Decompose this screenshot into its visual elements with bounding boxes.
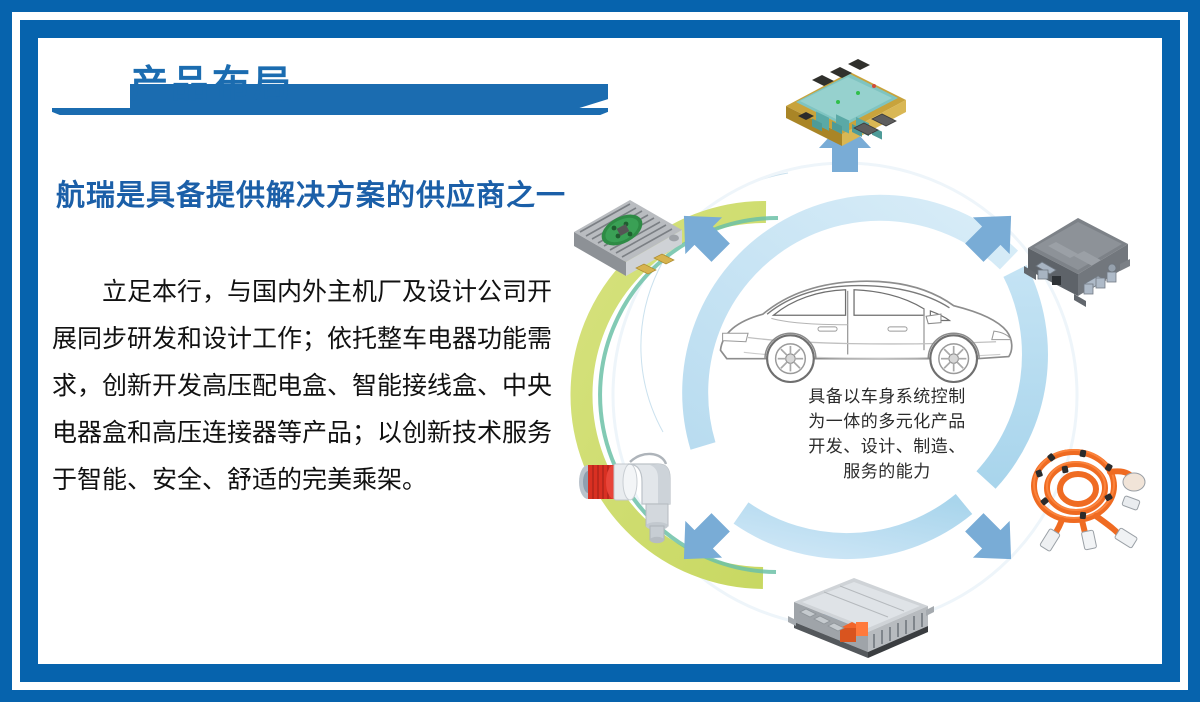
section-subtitle: 航瑞是具备提供解决方案的供应商之一 <box>56 172 596 214</box>
product-node-hv-distribution-box[interactable] <box>776 570 944 662</box>
center-caption: 具备以车身系统控制 为一体的多元化产品 开发、设计、制造、 服务的能力 <box>772 385 1002 485</box>
fuse-pcb-module-icon <box>772 50 918 146</box>
orange-hv-harness-icon <box>1018 436 1154 554</box>
product-node-fuse-pcb-module[interactable] <box>772 50 918 146</box>
hv-distribution-box-icon <box>776 570 944 662</box>
body-paragraph: 立足本行，与国内外主机厂及设计公司开展同步研发和设计工作；依托整车电器功能需求，… <box>52 268 552 503</box>
slide-root: 产品布局 航瑞是具备提供解决方案的供应商之一 立足本行，与国内外主机厂及设计公司… <box>0 0 1200 702</box>
product-node-hv-connector[interactable] <box>570 442 696 546</box>
heatsink-module-icon <box>564 188 692 288</box>
sedan-car-icon <box>720 281 1011 382</box>
center-caption-line-2: 为一体的多元化产品 <box>772 410 1002 435</box>
page-title: 产品布局 <box>130 56 294 112</box>
title-banner: 产品布局 <box>52 58 612 114</box>
product-node-metal-junction-box[interactable] <box>1012 208 1142 316</box>
metal-junction-box-icon <box>1012 208 1142 316</box>
center-caption-line-3: 开发、设计、制造、 <box>772 435 1002 460</box>
center-caption-line-1: 具备以车身系统控制 <box>772 385 1002 410</box>
product-node-heatsink-module[interactable] <box>564 188 692 288</box>
product-node-orange-hv-harness[interactable] <box>1018 436 1154 554</box>
product-layout-diagram: 具备以车身系统控制 为一体的多元化产品 开发、设计、制造、 服务的能力 <box>560 60 1180 660</box>
hv-connector-icon <box>570 442 696 546</box>
center-caption-line-4: 服务的能力 <box>772 460 1002 485</box>
